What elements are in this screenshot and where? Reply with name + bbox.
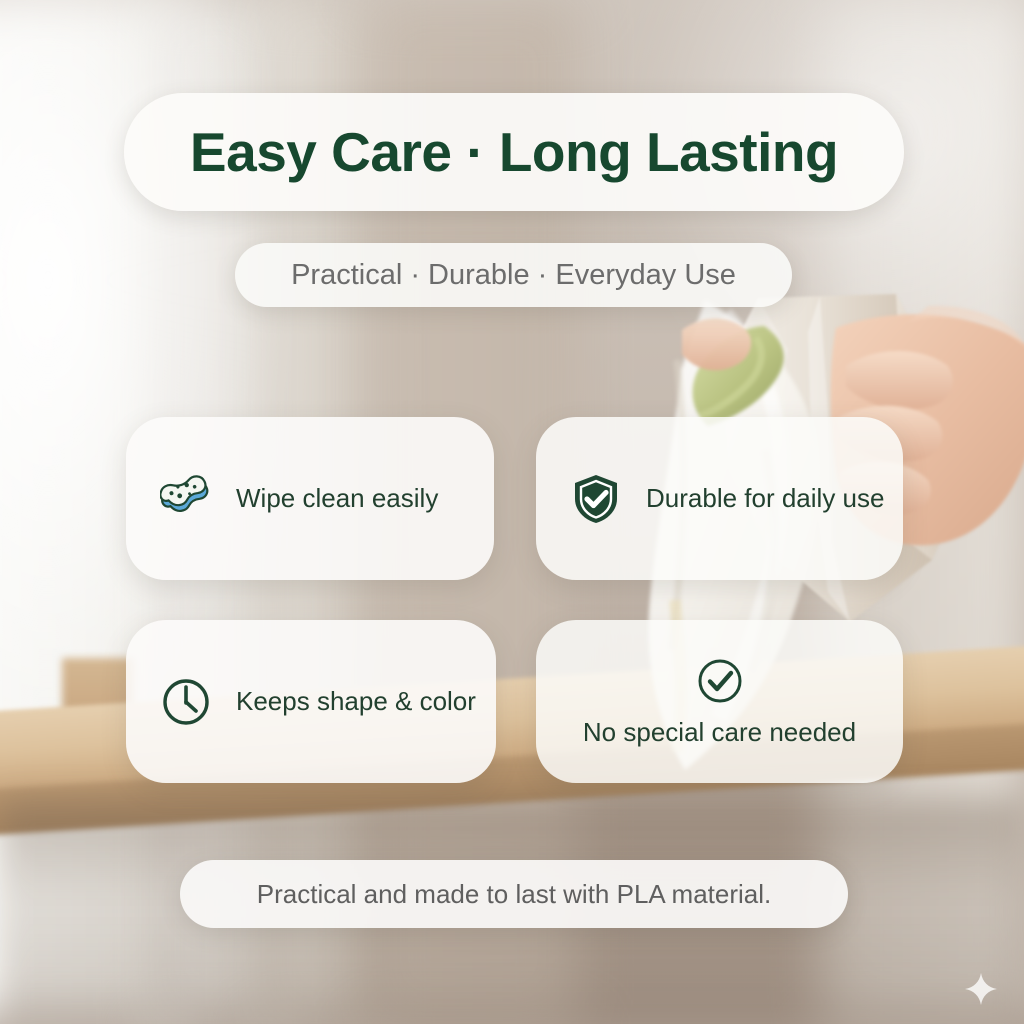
feature-label: No special care needed: [583, 717, 856, 748]
subtitle-pill: Practical · Durable · Everyday Use: [235, 243, 792, 307]
feature-label: Keeps shape & color: [236, 686, 476, 717]
page-subtitle: Practical · Durable · Everyday Use: [291, 259, 736, 292]
feature-card-durable[interactable]: Durable for daily use: [536, 417, 903, 580]
clock-icon: [160, 676, 212, 728]
feature-card-no-special-care[interactable]: No special care needed: [536, 620, 903, 783]
feature-card-wipe-clean[interactable]: Wipe clean easily: [126, 417, 494, 580]
caption-pill: Practical and made to last with PLA mate…: [180, 860, 848, 928]
caption-text: Practical and made to last with PLA mate…: [257, 879, 771, 910]
feature-label: Durable for daily use: [646, 483, 884, 514]
page-title: Easy Care · Long Lasting: [190, 120, 838, 184]
feature-card-keeps-shape[interactable]: Keeps shape & color: [126, 620, 496, 783]
check-circle-icon: [694, 655, 746, 707]
sponge-icon: [160, 473, 212, 525]
shield-check-icon: [570, 473, 622, 525]
sparkle-icon: [964, 972, 998, 1006]
title-pill: Easy Care · Long Lasting: [124, 93, 904, 211]
feature-label: Wipe clean easily: [236, 483, 438, 514]
